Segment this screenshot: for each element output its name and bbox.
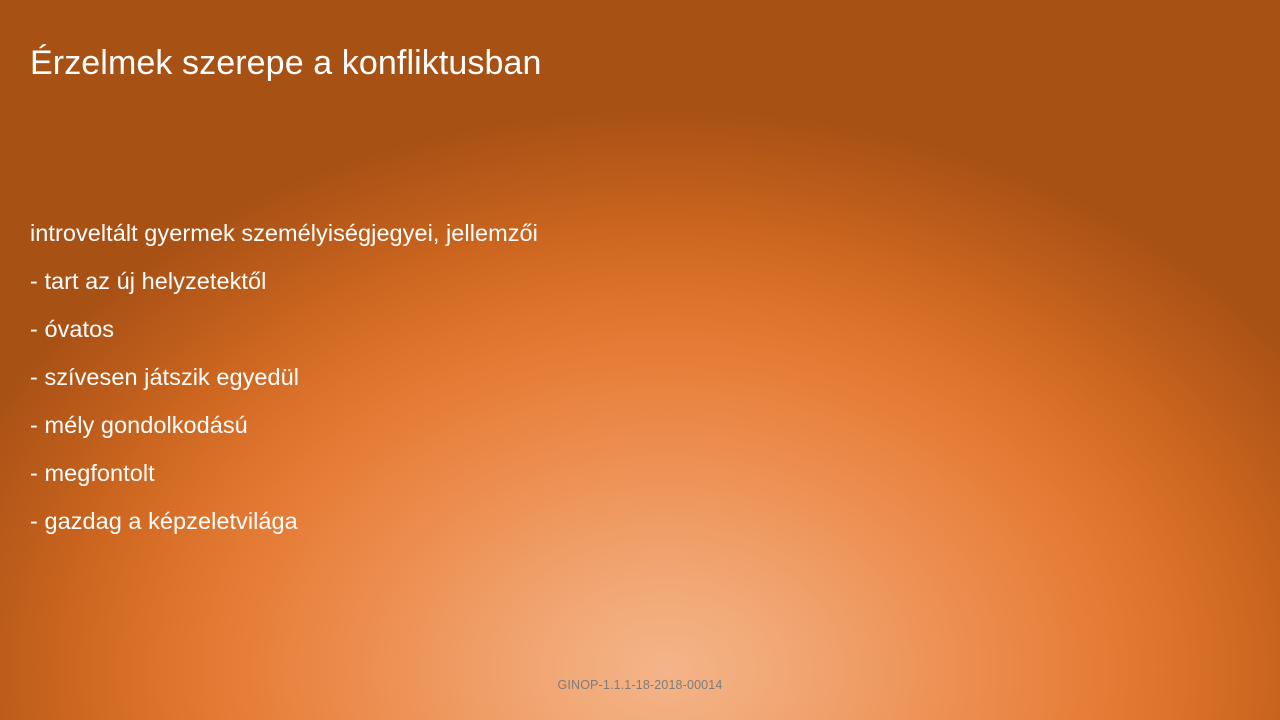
slide-body-placeholder: introveltált gyermek személyiségjegyei, … <box>30 209 1190 545</box>
body-line: - gazdag a képzeletvilága <box>30 497 1190 545</box>
page-title: Érzelmek szerepe a konfliktusban <box>30 40 1210 86</box>
body-line: - tart az új helyzetektől <box>30 257 1190 305</box>
body-line: introveltált gyermek személyiségjegyei, … <box>30 209 1190 257</box>
slide-title-placeholder: Érzelmek szerepe a konfliktusban <box>30 40 1210 102</box>
body-line: - mély gondolkodású <box>30 401 1190 449</box>
slide-footer: GINOP-1.1.1-18-2018-00014 <box>0 676 1280 694</box>
body-line: - szívesen játszik egyedül <box>30 353 1190 401</box>
presentation-slide: Érzelmek szerepe a konfliktusban introve… <box>0 0 1280 720</box>
body-line: - megfontolt <box>30 449 1190 497</box>
body-line: - óvatos <box>30 305 1190 353</box>
project-identifier-label: GINOP-1.1.1-18-2018-00014 <box>558 676 723 694</box>
